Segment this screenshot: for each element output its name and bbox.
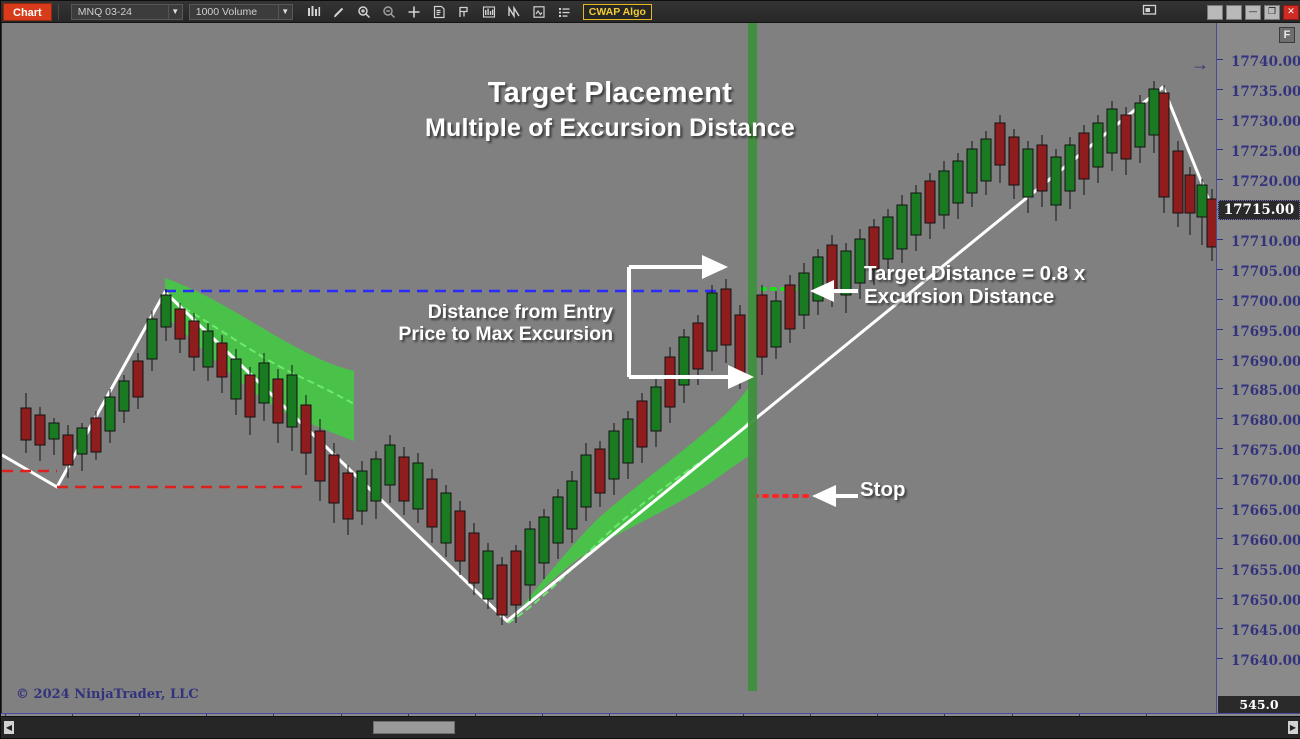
window-minimize-button[interactable]: — — [1245, 5, 1261, 20]
candle — [385, 435, 395, 503]
candle — [413, 453, 423, 523]
toolbar-icon-row — [303, 3, 575, 21]
candle — [91, 411, 101, 460]
price-axis-label: 17645.00 — [1231, 623, 1300, 639]
ninjatrader-window: Chart MNQ 03-24 ▼ 1000 Volume ▼ — [0, 0, 1300, 739]
candle — [35, 407, 45, 461]
candle — [799, 263, 809, 329]
price-axis-label: 17725.00 — [1231, 144, 1300, 160]
candle — [287, 365, 297, 451]
candle — [329, 443, 339, 523]
flatten-badge[interactable]: F — [1279, 27, 1295, 43]
candle — [665, 347, 675, 423]
price-axis-label: 17680.00 — [1231, 413, 1300, 429]
chevron-down-icon[interactable]: ▼ — [278, 5, 292, 19]
candle — [595, 441, 605, 507]
window-restore-a-button[interactable] — [1207, 5, 1223, 20]
price-axis-label: 17705.00 — [1231, 264, 1300, 280]
candle — [175, 303, 185, 353]
histogram-icon[interactable] — [478, 3, 500, 21]
flag-icon[interactable] — [453, 3, 475, 21]
chart-panel[interactable]: Target Placement Multiple of Excursion D… — [2, 23, 1300, 715]
list-icon[interactable] — [553, 3, 575, 21]
candle — [707, 285, 717, 371]
candle — [581, 443, 591, 521]
price-axis-label: 17710.00 — [1231, 234, 1300, 250]
candle — [1185, 167, 1195, 235]
price-axis-tick — [1217, 239, 1223, 240]
candle — [441, 485, 451, 557]
price-axis-tick — [1217, 89, 1223, 90]
vertical-entry-marker — [748, 23, 757, 691]
excursion-top-arrowhead — [702, 255, 728, 279]
cwap-band-up — [508, 381, 753, 623]
price-axis-label: 17740.00 — [1231, 54, 1300, 70]
candle — [49, 418, 59, 455]
candle — [259, 353, 269, 421]
candlestick-series — [21, 81, 1217, 625]
candle — [483, 543, 493, 609]
price-axis-label: 17640.00 — [1231, 653, 1300, 669]
price-axis[interactable]: F 17740.0017735.0017730.0017725.0017720.… — [1216, 23, 1300, 715]
candle — [785, 275, 795, 343]
candle — [1159, 85, 1169, 213]
candle — [539, 509, 549, 579]
candle — [203, 323, 213, 381]
candle — [757, 285, 767, 375]
candle — [883, 209, 893, 275]
candle — [399, 447, 409, 515]
crosshair-icon[interactable] — [403, 3, 425, 21]
candle — [813, 249, 823, 315]
price-plot-area[interactable] — [2, 23, 1218, 691]
price-axis-label: 17660.00 — [1231, 533, 1300, 549]
price-axis-label: 17650.00 — [1231, 593, 1300, 609]
candle — [651, 379, 661, 447]
pencil-icon[interactable] — [328, 3, 350, 21]
cwap-band-down — [165, 278, 354, 441]
candle — [1197, 179, 1207, 245]
candle — [357, 461, 367, 525]
candle — [953, 153, 963, 219]
window-controls: — ❐ ✕ — [1142, 3, 1299, 21]
price-axis-tick — [1217, 149, 1223, 150]
candle — [455, 501, 465, 575]
price-axis-tick — [1217, 388, 1223, 389]
candle — [1023, 141, 1033, 213]
candle — [567, 471, 577, 543]
instrument-value: MNQ 03-24 — [78, 5, 168, 19]
price-axis-tick — [1217, 269, 1223, 270]
candle — [217, 335, 227, 393]
price-axis-label: 17700.00 — [1231, 294, 1300, 310]
data-box-icon[interactable] — [428, 3, 450, 21]
candle — [981, 131, 991, 195]
candle — [147, 311, 157, 371]
interval-selector[interactable]: 1000 Volume ▼ — [189, 4, 293, 20]
image-icon[interactable] — [528, 3, 550, 21]
candle — [119, 375, 129, 423]
price-axis-tick — [1217, 568, 1223, 569]
candle — [301, 395, 311, 475]
candle — [1121, 107, 1131, 175]
instrument-selector[interactable]: MNQ 03-24 ▼ — [71, 4, 183, 20]
price-axis-tick — [1217, 538, 1223, 539]
candle — [623, 411, 633, 479]
scrollbar-right-button[interactable]: ▶ — [1288, 721, 1298, 734]
candle — [609, 423, 619, 495]
last-price-marker[interactable]: 17715.00 — [1218, 200, 1300, 220]
price-axis-label: 17695.00 — [1231, 324, 1300, 340]
plot-svg — [2, 23, 1218, 691]
price-axis-tick — [1217, 508, 1223, 509]
price-axis-label: 17690.00 — [1231, 354, 1300, 370]
price-axis-label: 17730.00 — [1231, 114, 1300, 130]
minimize-icon: — — [1249, 8, 1258, 17]
indicator-chip-cwap-algo[interactable]: CWAP Algo — [583, 4, 652, 20]
candle — [273, 369, 283, 443]
zoom-in-icon[interactable] — [353, 3, 375, 21]
candle — [1065, 137, 1075, 209]
price-axis-label: 17665.00 — [1231, 503, 1300, 519]
candle — [371, 451, 381, 519]
maximize-icon: ❐ — [1268, 8, 1276, 17]
candle — [925, 173, 935, 239]
candle — [77, 423, 87, 471]
price-axis-tick — [1217, 478, 1223, 479]
candle — [841, 243, 851, 313]
candle — [1093, 115, 1103, 183]
zigzag-swing-line — [2, 87, 1218, 621]
chevron-down-icon[interactable]: ▼ — [168, 5, 182, 19]
interval-value: 1000 Volume — [196, 5, 278, 19]
volume-marker: 545.0 — [1218, 696, 1300, 713]
price-axis-tick — [1217, 628, 1223, 629]
candle — [1051, 149, 1061, 221]
candle — [1009, 129, 1019, 199]
candle — [679, 329, 689, 403]
zoom-out-icon[interactable] — [378, 3, 400, 21]
candle — [869, 219, 879, 285]
candle — [133, 353, 143, 409]
candle — [967, 141, 977, 207]
candle — [897, 195, 907, 263]
candle — [855, 229, 865, 299]
price-axis-tick — [1217, 59, 1223, 60]
candle — [245, 367, 255, 435]
candle — [161, 289, 171, 341]
price-axis-label: 17735.00 — [1231, 84, 1300, 100]
price-axis-tick — [1217, 329, 1223, 330]
candle — [231, 349, 241, 415]
candle — [497, 557, 507, 625]
snapshot-icon[interactable] — [1142, 3, 1158, 21]
candle — [1079, 125, 1089, 195]
candle — [995, 115, 1005, 183]
candle — [1037, 135, 1047, 207]
candle — [721, 279, 731, 363]
price-axis-label: 17655.00 — [1231, 563, 1300, 579]
candle — [1135, 95, 1145, 163]
candle — [1149, 81, 1159, 153]
close-icon: ✕ — [1287, 8, 1295, 17]
chart-tab[interactable]: Chart — [3, 3, 52, 21]
candle — [315, 419, 325, 501]
price-axis-label: 17720.00 — [1231, 174, 1300, 190]
stop-callout-arrow — [812, 485, 858, 507]
candle — [553, 489, 563, 559]
candle — [771, 291, 781, 359]
toolbar-divider — [58, 4, 59, 20]
chart-toolbar: Chart MNQ 03-24 ▼ 1000 Volume ▼ — [1, 1, 1300, 23]
window-restore-b-button[interactable] — [1226, 5, 1242, 20]
candle — [63, 425, 73, 478]
price-axis-label: 17675.00 — [1231, 443, 1300, 459]
candle — [693, 315, 703, 385]
bar-chart-icon[interactable] — [303, 3, 325, 21]
price-axis-tick — [1217, 418, 1223, 419]
line-series-icon[interactable] — [503, 3, 525, 21]
scroll-right-arrow-icon[interactable]: → — [1191, 55, 1209, 73]
price-axis-tick — [1217, 598, 1223, 599]
candle — [21, 393, 31, 453]
candle — [939, 161, 949, 229]
price-axis-label: 17685.00 — [1231, 383, 1300, 399]
price-axis-tick — [1217, 448, 1223, 449]
candle — [1173, 141, 1183, 227]
candle — [1107, 101, 1117, 171]
price-axis-tick — [1217, 179, 1223, 180]
candle — [427, 469, 437, 543]
horizontal-scrollbar[interactable]: ◀ ▶ — [1, 716, 1300, 738]
candle — [637, 393, 647, 463]
candle — [911, 185, 921, 251]
window-maximize-button[interactable]: ❐ — [1264, 5, 1280, 20]
candle — [105, 389, 115, 443]
price-axis-tick — [1217, 658, 1223, 659]
candle — [525, 521, 535, 601]
candle — [343, 465, 353, 535]
price-axis-tick — [1217, 119, 1223, 120]
scrollbar-thumb[interactable] — [373, 721, 455, 734]
price-axis-tick — [1217, 359, 1223, 360]
candle — [189, 313, 199, 371]
price-axis-label: 17670.00 — [1231, 473, 1300, 489]
price-axis-tick — [1217, 299, 1223, 300]
window-close-button[interactable]: ✕ — [1283, 5, 1299, 20]
scrollbar-left-button[interactable]: ◀ — [4, 721, 14, 734]
